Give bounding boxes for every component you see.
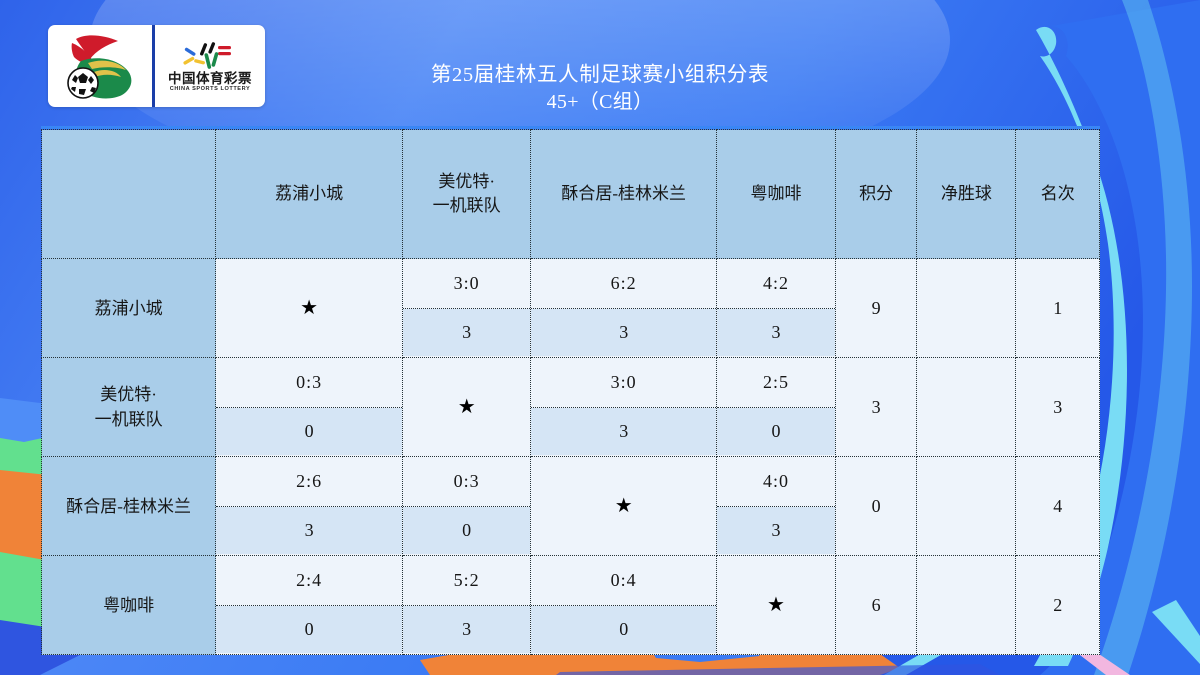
column-header-line1: 酥合居-桂林米兰 — [531, 182, 716, 206]
match-points: 3 — [403, 309, 530, 357]
row-team-name: 酥合居-桂林米兰 — [42, 457, 216, 556]
match-score: 0:3 — [216, 359, 402, 408]
logo-lockup: 中国体育彩票 CHINA SPORTS LOTTERY — [48, 25, 265, 107]
row-team-name: 粤咖啡 — [42, 556, 216, 655]
match-score: 5:2 — [403, 557, 530, 606]
row-total-points: 6 — [835, 556, 916, 655]
row-team-line2: 一机联队 — [42, 407, 215, 432]
table-body: 荔浦小城 ★ 3:0 3 6:2 3 — [42, 259, 1100, 655]
lottery-name-en: CHINA SPORTS LOTTERY — [170, 87, 251, 93]
row-team-line1: 荔浦小城 — [42, 296, 215, 321]
page-subtitle: 45+（C组） — [280, 89, 920, 116]
row-total-points: 0 — [835, 457, 916, 556]
star-icon: ★ — [531, 458, 716, 554]
football-emblem-icon — [48, 25, 152, 107]
match-cell: 3:0 3 — [531, 358, 717, 457]
match-points: 0 — [717, 408, 835, 456]
column-header-goal-difference: 净胜球 — [917, 130, 1016, 259]
match-cell-self: ★ — [717, 556, 836, 655]
match-score: 0:3 — [403, 458, 530, 507]
match-points: 3 — [531, 309, 716, 357]
row-goal-difference — [917, 259, 1016, 358]
lottery-name-cn: 中国体育彩票 — [168, 72, 252, 86]
match-score: 3:0 — [531, 359, 716, 408]
match-score: 0:4 — [531, 557, 716, 606]
match-cell: 4:2 3 — [717, 259, 836, 358]
row-rank: 1 — [1016, 259, 1100, 358]
match-score: 2:4 — [216, 557, 402, 606]
table-header-row: 荔浦小城 美优特· 一机联队 酥合居-桂林米兰 粤咖啡 积分 净胜球 名次 — [42, 130, 1100, 259]
match-points: 3 — [717, 507, 835, 555]
standings-table-container: 荔浦小城 美优特· 一机联队 酥合居-桂林米兰 粤咖啡 积分 净胜球 名次 — [41, 126, 1100, 655]
row-total-points: 3 — [835, 358, 916, 457]
match-cell: 6:2 3 — [531, 259, 717, 358]
match-points: 3 — [216, 507, 402, 555]
column-header-line1: 美优特· — [403, 170, 530, 194]
match-cell: 2:4 0 — [216, 556, 403, 655]
star-icon: ★ — [717, 557, 835, 653]
row-rank: 4 — [1016, 457, 1100, 556]
match-points: 0 — [216, 408, 402, 456]
row-team-line1: 美优特· — [42, 382, 215, 407]
match-cell: 0:4 0 — [531, 556, 717, 655]
match-score: 4:0 — [717, 458, 835, 507]
column-header-line1: 粤咖啡 — [717, 182, 835, 206]
row-team-line1: 酥合居-桂林米兰 — [42, 494, 215, 519]
match-points: 3 — [717, 309, 835, 357]
column-header-team-4: 粤咖啡 — [717, 130, 836, 259]
match-points: 0 — [403, 507, 530, 555]
column-header-team-1: 荔浦小城 — [216, 130, 403, 259]
match-score: 4:2 — [717, 260, 835, 309]
match-points: 3 — [403, 606, 530, 654]
table-row: 荔浦小城 ★ 3:0 3 6:2 3 — [42, 259, 1100, 358]
column-header-rank: 名次 — [1016, 130, 1100, 259]
match-cell: 3:0 3 — [403, 259, 531, 358]
match-cell-self: ★ — [216, 259, 403, 358]
column-header-line1: 荔浦小城 — [216, 182, 402, 206]
row-team-name: 美优特· 一机联队 — [42, 358, 216, 457]
guilin-football-association-logo — [48, 25, 152, 107]
table-row: 粤咖啡 2:4 0 5:2 3 0:4 — [42, 556, 1100, 655]
match-score: 2:5 — [717, 359, 835, 408]
row-rank: 3 — [1016, 358, 1100, 457]
lottery-star-icon — [182, 41, 238, 71]
table-row: 酥合居-桂林米兰 2:6 3 0:3 0 ★ — [42, 457, 1100, 556]
page-title: 第25届桂林五人制足球赛小组积分表 — [280, 62, 920, 89]
match-points: 3 — [531, 408, 716, 456]
row-total-points: 9 — [835, 259, 916, 358]
star-icon: ★ — [216, 260, 402, 356]
match-cell-self: ★ — [403, 358, 531, 457]
match-points: 0 — [216, 606, 402, 654]
match-cell: 5:2 3 — [403, 556, 531, 655]
match-cell: 2:6 3 — [216, 457, 403, 556]
row-goal-difference — [917, 556, 1016, 655]
china-sports-lottery-mark-icon — [182, 41, 238, 71]
row-goal-difference — [917, 358, 1016, 457]
match-cell: 0:3 0 — [216, 358, 403, 457]
table-corner-cell — [42, 130, 216, 259]
row-goal-difference — [917, 457, 1016, 556]
column-header-team-2: 美优特· 一机联队 — [403, 130, 531, 259]
match-cell: 0:3 0 — [403, 457, 531, 556]
star-icon: ★ — [403, 359, 530, 455]
row-team-name: 荔浦小城 — [42, 259, 216, 358]
row-rank: 2 — [1016, 556, 1100, 655]
column-header-points: 积分 — [835, 130, 916, 259]
match-score: 6:2 — [531, 260, 716, 309]
lottery-brand: 中国体育彩票 CHINA SPORTS LOTTERY — [155, 24, 265, 108]
table-row: 美优特· 一机联队 0:3 0 ★ 3:0 3 — [42, 358, 1100, 457]
match-score: 2:6 — [216, 458, 402, 507]
match-cell: 2:5 0 — [717, 358, 836, 457]
match-cell-self: ★ — [531, 457, 717, 556]
column-header-line2: 一机联队 — [403, 194, 530, 218]
standings-table: 荔浦小城 美优特· 一机联队 酥合居-桂林米兰 粤咖啡 积分 净胜球 名次 — [41, 129, 1100, 655]
match-cell: 4:0 3 — [717, 457, 836, 556]
page-title-block: 第25届桂林五人制足球赛小组积分表 45+（C组） — [280, 62, 920, 116]
match-points: 0 — [531, 606, 716, 654]
column-header-team-3: 酥合居-桂林米兰 — [531, 130, 717, 259]
row-team-line1: 粤咖啡 — [42, 593, 215, 618]
match-score: 3:0 — [403, 260, 530, 309]
